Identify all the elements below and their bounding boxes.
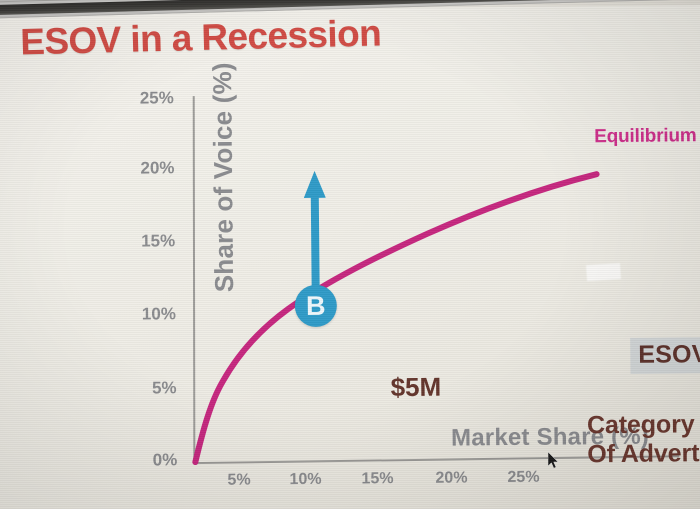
category-kills-note: Category Kills 50% Of Advertising Spend (587, 409, 700, 469)
spend-label: $5M (390, 372, 441, 403)
esov-chart: 25% 20% 15% 10% 5% 0% 5% 10% 15% 20% 25%… (176, 85, 680, 475)
y-tick-15: 15% (141, 231, 175, 251)
esov-value-text: ESOV= +10 (638, 339, 700, 369)
equilibrium-label: Equilibrium (594, 125, 697, 148)
y-tick-5: 5% (152, 378, 177, 398)
y-tick-20: 20% (140, 158, 174, 178)
presentation-slide: ESOV in a Recession 25% 20% 15% 10% 5% 0… (0, 5, 700, 509)
mouse-pointer-icon (548, 452, 560, 470)
screenshot-root: ESOV in a Recession 25% 20% 15% 10% 5% 0… (0, 0, 700, 509)
screen-glare-artifact (586, 263, 621, 281)
esov-value-box: ESOV= +10 (630, 336, 700, 373)
y-tick-0: 0% (153, 450, 178, 470)
y-tick-25: 25% (140, 88, 174, 108)
esov-gap-arrow-icon (304, 171, 327, 301)
y-tick-10: 10% (142, 304, 176, 324)
category-kills-line2: Of Advertising Spend (587, 438, 700, 469)
slide-title: ESOV in a Recession (20, 12, 382, 63)
brand-b-marker: B (295, 285, 337, 327)
category-kills-line1: Category Kills 50% (587, 409, 700, 440)
